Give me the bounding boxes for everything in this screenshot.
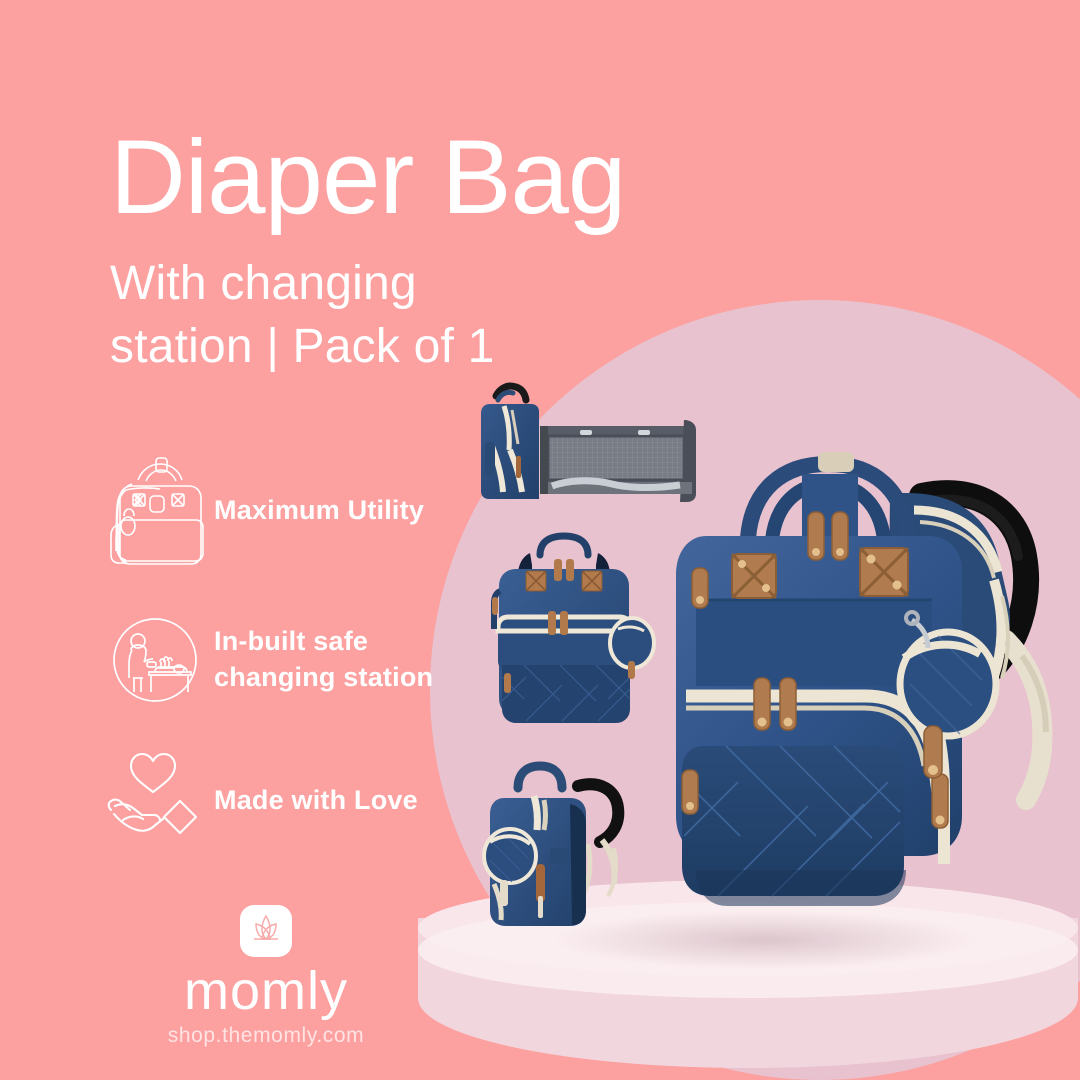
feature-item-made-with-love: Made with Love <box>96 748 496 854</box>
momly-lotus-logo <box>240 905 292 957</box>
product-shot-backpack-side <box>474 752 674 937</box>
subtitle-line-2: station | Pack of 1 <box>110 315 494 378</box>
heart-in-hand-icon <box>96 748 214 854</box>
brand-url[interactable]: shop.themomly.com <box>146 1024 386 1048</box>
backpack-icon <box>96 450 214 572</box>
brand-block: momly shop.themomly.com <box>146 905 386 1048</box>
subtitle-line-1: With changing <box>110 252 494 315</box>
feature-list: Maximum Utility <box>96 450 496 892</box>
feature-item-changing-station: In-built safe changing station <box>96 610 496 710</box>
feature-label: Made with Love <box>214 783 418 819</box>
feature-label: In-built safe changing station <box>214 624 433 696</box>
page-subtitle: With changing station | Pack of 1 <box>110 252 494 379</box>
feature-label: Maximum Utility <box>214 493 424 529</box>
ad-canvas: Diaper Bag With changing station | Pack … <box>0 0 1080 1080</box>
product-shot-backpack-hero <box>676 440 1080 930</box>
changing-station-icon <box>96 610 214 710</box>
page-title: Diaper Bag <box>110 124 625 231</box>
product-shot-backpack-front <box>478 525 658 735</box>
brand-name: momly <box>146 963 386 1020</box>
feature-item-maximum-utility: Maximum Utility <box>96 450 496 572</box>
